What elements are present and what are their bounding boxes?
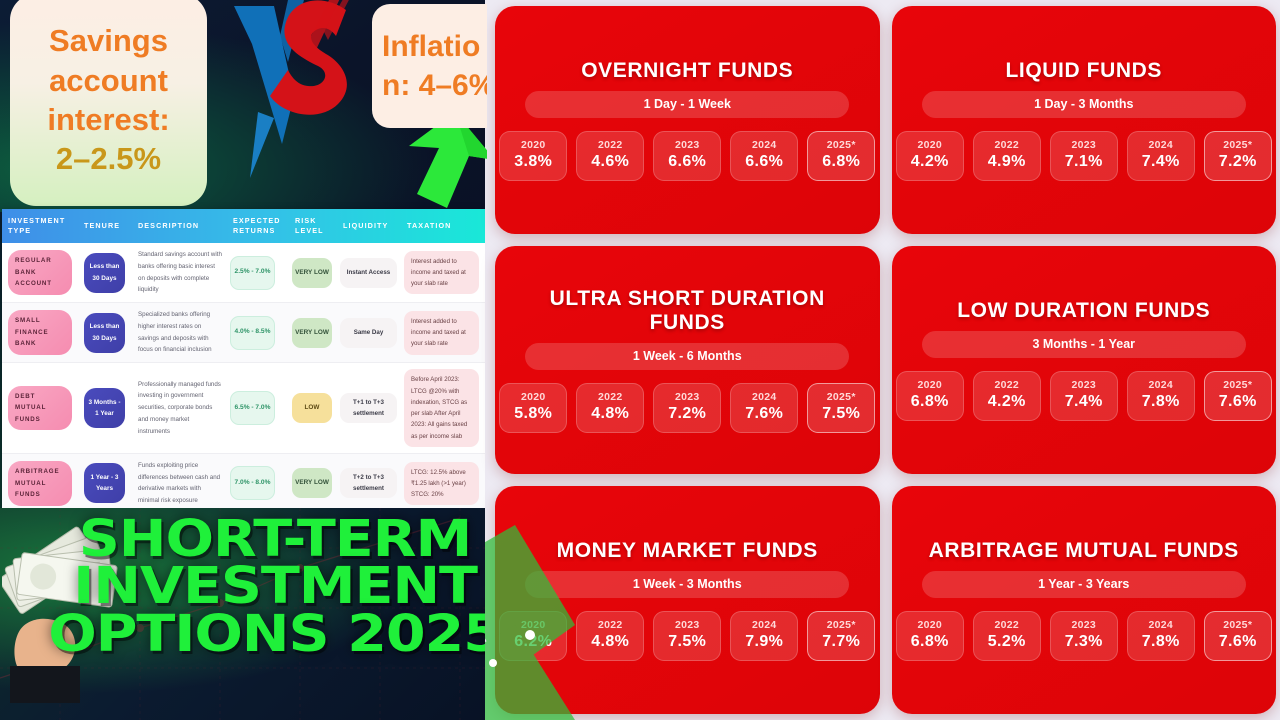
title-line-3: OPTIONS 2025 [45,611,487,658]
cell-taxation: Before April 2023: LTCG @20% with indexa… [404,369,479,447]
cell-tenure: 1 Year - 3 Years [84,463,138,503]
fund-card-title: MONEY MARKET FUNDS [557,539,818,563]
year-label: 2025* [1207,379,1269,391]
fund-card-arbitrage-mutual-funds[interactable]: ARBITRAGE MUTUAL FUNDS 1 Year - 3 Years … [892,486,1277,714]
fund-card-period: 1 Day - 1 Week [525,91,849,118]
col-header-taxation: TAXATION [407,221,479,231]
year-label: 2024 [1130,139,1192,151]
year-value: 7.8% [1130,393,1192,411]
returns-pill: 7.0% - 8.0% [230,466,275,500]
year-label: 2024 [1130,619,1192,631]
year-chip-current[interactable]: 2025*7.2% [1204,131,1272,181]
type-pill: ARBITRAGE MUTUAL FUNDS [8,461,72,505]
year-value: 5.8% [502,405,564,423]
fund-card-period: 3 Months - 1 Year [922,331,1246,358]
risk-pill: VERY LOW [292,318,332,348]
savings-interest-badge: Savings account interest: 2–2.5% [10,0,207,206]
year-returns-row: 20206.8% 20224.2% 20237.4% 20247.8% 2025… [906,371,1263,421]
year-value: 4.2% [976,393,1038,411]
year-label: 2020 [899,139,961,151]
risk-pill: VERY LOW [292,258,332,288]
table-row[interactable]: SMALL FINANCE BANK Less than 30 Days Spe… [2,303,485,363]
cell-liquidity: T+1 to T+3 settlement [340,393,404,423]
year-label: 2022 [976,139,1038,151]
year-label: 2025* [1207,619,1269,631]
cell-returns: 6.5% - 7.0% [230,391,292,425]
year-chip[interactable]: 20224.6% [576,131,644,181]
year-value: 7.6% [1207,393,1269,411]
year-chip[interactable]: 20205.8% [499,383,567,433]
year-label: 2024 [1130,379,1192,391]
year-value: 4.6% [579,153,641,171]
year-value: 7.2% [656,405,718,423]
returns-pill: 4.0% - 8.5% [230,316,275,350]
col-header-expected-returns: EXPECTED RETURNS [233,216,295,235]
year-label: 2024 [733,391,795,403]
year-label: 2022 [579,391,641,403]
col-header-investment-type: INVESTMENT TYPE [8,216,84,235]
cell-liquidity: Same Day [340,318,404,348]
fund-card-title: OVERNIGHT FUNDS [581,59,793,83]
left-panel: Savings account interest: 2–2.5% Inflati… [0,0,487,720]
year-label: 2022 [579,139,641,151]
cell-description: Funds exploiting price differences betwe… [138,460,230,507]
cell-description: Specialized banks offering higher intere… [138,309,230,356]
year-chip[interactable]: 20237.4% [1050,371,1118,421]
cell-risk: VERY LOW [292,258,340,288]
year-chip[interactable]: 20224.9% [973,131,1041,181]
year-value: 6.8% [899,633,961,651]
title-line-2: INVESTMENT [45,563,487,610]
tenure-pill: 3 Months - 1 Year [84,388,125,428]
year-value: 5.2% [976,633,1038,651]
year-value: 4.8% [579,405,641,423]
liquidity-pill: Instant Access [340,258,397,288]
year-value: 7.1% [1053,153,1115,171]
cell-tenure: Less than 30 Days [84,313,138,353]
type-pill: SMALL FINANCE BANK [8,310,72,354]
year-label: 2020 [502,391,564,403]
liquidity-pill: T+2 to T+3 settlement [340,468,397,498]
year-label: 2022 [976,619,1038,631]
year-chip-current[interactable]: 2025*6.8% [807,131,875,181]
risk-pill: LOW [292,393,332,423]
year-chip[interactable]: 20247.4% [1127,131,1195,181]
col-header-tenure: TENURE [84,221,138,231]
year-label: 2023 [1053,139,1115,151]
investment-comparison-table: INVESTMENT TYPE TENURE DESCRIPTION EXPEC… [2,209,485,508]
fund-card-period: 1 Week - 6 Months [525,343,849,370]
year-label: 2023 [656,391,718,403]
year-chip-current[interactable]: 2025*7.7% [807,611,875,661]
year-chip[interactable]: 20247.8% [1127,371,1195,421]
versus-icon [228,0,368,182]
cell-taxation: Interest added to income and taxed at yo… [404,251,479,295]
year-chip[interactable]: 20203.8% [499,131,567,181]
year-returns-row: 20203.8% 20224.6% 20236.6% 20246.6% 2025… [509,131,866,181]
year-chip-current[interactable]: 2025*7.6% [1204,371,1272,421]
fund-card-title: LOW DURATION FUNDS [957,299,1210,323]
year-value: 7.4% [1130,153,1192,171]
savings-line-2: account [49,61,168,100]
fund-card-liquid-funds[interactable]: LIQUID FUNDS 1 Day - 3 Months 20204.2% 2… [892,6,1277,234]
cell-tenure: Less than 30 Days [84,253,138,293]
table-row[interactable]: REGULAR BANK ACCOUNT Less than 30 Days S… [2,243,485,303]
fund-card-period: 1 Day - 3 Months [922,91,1246,118]
taxation-pill: Interest added to income and taxed at yo… [404,311,479,355]
year-chip[interactable]: 20246.6% [730,131,798,181]
year-returns-row: 20204.2% 20224.9% 20237.1% 20247.4% 2025… [906,131,1263,181]
year-value: 4.8% [579,633,641,651]
year-chip[interactable]: 20237.5% [653,611,721,661]
year-chip-current[interactable]: 2025*7.5% [807,383,875,433]
year-label: 2025* [1207,139,1269,151]
year-value: 6.8% [810,153,872,171]
year-value: 6.8% [899,393,961,411]
cell-returns: 2.5% - 7.0% [230,256,292,290]
fund-card-title: ULTRA SHORT DURATION FUNDS [509,287,866,334]
year-label: 2025* [810,619,872,631]
fund-card-period: 1 Week - 3 Months [525,571,849,598]
fund-card-low-duration-funds[interactable]: LOW DURATION FUNDS 3 Months - 1 Year 202… [892,246,1277,474]
cell-description: Standard savings account with banks offe… [138,249,230,296]
savings-line-3: interest: [47,100,169,139]
year-value: 7.9% [733,633,795,651]
year-chip[interactable]: 20237.3% [1050,611,1118,661]
year-label: 2022 [976,379,1038,391]
year-value: 7.5% [810,405,872,423]
table-header-row: INVESTMENT TYPE TENURE DESCRIPTION EXPEC… [2,209,485,243]
year-label: 2023 [656,139,718,151]
year-chip[interactable]: 20224.2% [973,371,1041,421]
year-value: 7.7% [810,633,872,651]
year-label: 2024 [733,619,795,631]
cell-taxation: Interest added to income and taxed at yo… [404,311,479,355]
year-value: 7.6% [1207,633,1269,651]
year-chip[interactable]: 20224.8% [576,611,644,661]
fund-card-money-market-funds[interactable]: MONEY MARKET FUNDS 1 Week - 3 Months 202… [495,486,880,714]
year-chip[interactable]: 20247.6% [730,383,798,433]
fund-card-period: 1 Year - 3 Years [922,571,1246,598]
tenure-pill: Less than 30 Days [84,253,125,293]
year-label: 2020 [502,619,564,631]
year-chip[interactable]: 20204.2% [896,131,964,181]
savings-rate-value: 2–2.5% [56,139,161,178]
fund-card-ultra-short-duration-funds[interactable]: ULTRA SHORT DURATION FUNDS 1 Week - 6 Mo… [495,246,880,474]
year-chip[interactable]: 20247.9% [730,611,798,661]
fund-cards-grid: OVERNIGHT FUNDS 1 Day - 1 Week 20203.8% … [485,0,1280,720]
cell-risk: LOW [292,393,340,423]
cell-taxation: LTCG: 12.5% above ₹1.25 lakh (>1 year) S… [404,462,479,506]
liquidity-pill: Same Day [340,318,397,348]
year-chip[interactable]: 20206.8% [896,371,964,421]
year-chip[interactable]: 20224.8% [576,383,644,433]
year-value: 7.2% [1207,153,1269,171]
cell-liquidity: Instant Access [340,258,404,288]
year-label: 2023 [1053,619,1115,631]
tenure-pill: Less than 30 Days [84,313,125,353]
liquidity-pill: T+1 to T+3 settlement [340,393,397,423]
returns-pill: 6.5% - 7.0% [230,391,275,425]
year-label: 2025* [810,139,872,151]
year-label: 2022 [579,619,641,631]
year-value: 7.5% [656,633,718,651]
col-header-liquidity: LIQUIDITY [343,221,407,231]
cell-risk: VERY LOW [292,318,340,348]
taxation-pill: LTCG: 12.5% above ₹1.25 lakh (>1 year) S… [404,462,479,506]
year-value: 7.4% [1053,393,1115,411]
year-chip[interactable]: 20237.2% [653,383,721,433]
cell-type: SMALL FINANCE BANK [8,310,84,354]
hero-comparison-section: Savings account interest: 2–2.5% Inflati… [0,0,487,212]
risk-pill: VERY LOW [292,468,332,498]
cell-liquidity: T+2 to T+3 settlement [340,468,404,498]
year-value: 4.9% [976,153,1038,171]
type-pill: REGULAR BANK ACCOUNT [8,250,72,294]
taxation-pill: Before April 2023: LTCG @20% with indexa… [404,369,479,447]
cell-returns: 4.0% - 8.5% [230,316,292,350]
page-title: SHORT-TERM INVESTMENT OPTIONS 2025 [45,516,487,658]
type-pill: DEBT MUTUAL FUNDS [8,386,72,430]
year-chip[interactable]: 20247.8% [1127,611,1195,661]
cell-type: ARBITRAGE MUTUAL FUNDS [8,461,84,505]
cell-risk: VERY LOW [292,468,340,498]
bottom-title-section: SHORT-TERM INVESTMENT OPTIONS 2025 [0,508,487,720]
col-header-description: DESCRIPTION [138,221,233,231]
year-label: 2023 [656,619,718,631]
year-value: 6.2% [502,633,564,651]
inflation-rate-badge: Inflatio n: 4–6% [372,4,487,128]
table-row[interactable]: ARBITRAGE MUTUAL FUNDS 1 Year - 3 Years … [2,454,485,508]
fund-card-overnight-funds[interactable]: OVERNIGHT FUNDS 1 Day - 1 Week 20203.8% … [495,6,880,234]
inflation-line-2: n: 4–6% [382,66,487,105]
year-value: 6.6% [656,153,718,171]
year-chip[interactable]: 20206.2% [499,611,567,661]
year-returns-row: 20206.2% 20224.8% 20237.5% 20247.9% 2025… [509,611,866,661]
year-chip[interactable]: 20225.2% [973,611,1041,661]
year-returns-row: 20206.8% 20225.2% 20237.3% 20247.8% 2025… [906,611,1263,661]
year-label: 2023 [1053,379,1115,391]
col-header-risk-level: RISK LEVEL [295,216,343,235]
year-label: 2024 [733,139,795,151]
year-value: 3.8% [502,153,564,171]
cell-tenure: 3 Months - 1 Year [84,388,138,428]
year-label: 2020 [899,379,961,391]
fund-card-title: ARBITRAGE MUTUAL FUNDS [929,539,1239,563]
year-value: 7.8% [1130,633,1192,651]
year-value: 4.2% [899,153,961,171]
year-value: 6.6% [733,153,795,171]
year-value: 7.3% [1053,633,1115,651]
year-label: 2025* [810,391,872,403]
year-chip[interactable]: 20236.6% [653,131,721,181]
year-chip[interactable]: 20206.8% [896,611,964,661]
cell-type: REGULAR BANK ACCOUNT [8,250,84,294]
year-returns-row: 20205.8% 20224.8% 20237.2% 20247.6% 2025… [509,383,866,433]
cell-description: Professionally managed funds investing i… [138,379,230,438]
inflation-line-1: Inflatio [382,27,487,66]
year-chip-current[interactable]: 2025*7.6% [1204,611,1272,661]
cell-returns: 7.0% - 8.0% [230,466,292,500]
year-label: 2020 [502,139,564,151]
year-label: 2020 [899,619,961,631]
savings-line-1: Savings [49,21,168,60]
returns-pill: 2.5% - 7.0% [230,256,275,290]
year-chip[interactable]: 20237.1% [1050,131,1118,181]
tenure-pill: 1 Year - 3 Years [84,463,125,503]
taxation-pill: Interest added to income and taxed at yo… [404,251,479,295]
table-row[interactable]: DEBT MUTUAL FUNDS 3 Months - 1 Year Prof… [2,363,485,454]
fund-card-title: LIQUID FUNDS [1005,59,1162,83]
cell-type: DEBT MUTUAL FUNDS [8,386,84,430]
year-value: 7.6% [733,405,795,423]
